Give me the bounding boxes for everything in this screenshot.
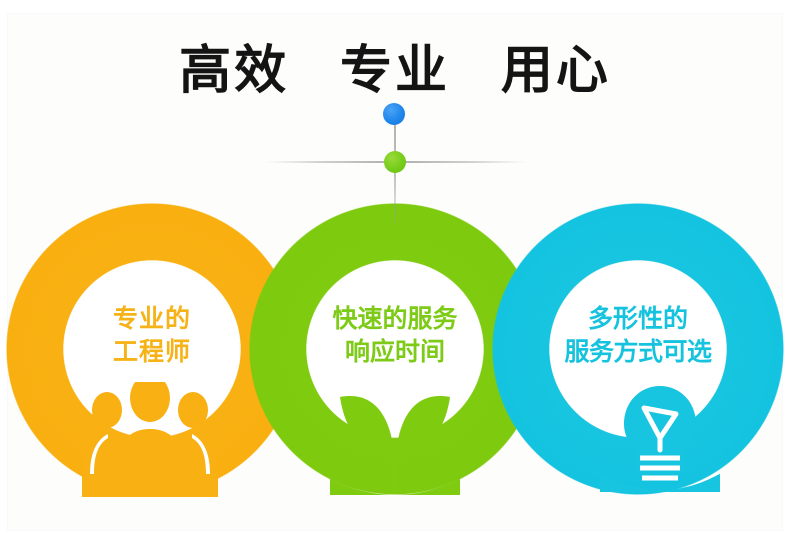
- circle-label-green-line2: 响应时间: [255, 335, 535, 368]
- blue-dot-icon: [383, 103, 405, 125]
- circle-label-orange-line2: 工程师: [12, 335, 292, 368]
- sprout-icon: [330, 383, 460, 500]
- people-group-icon: [82, 382, 218, 502]
- circle-label-cyan: 多形性的 服务方式可选: [496, 302, 780, 368]
- infographic-canvas: 高效 专业 用心: [0, 0, 790, 557]
- heading-word-1: 高效: [179, 28, 289, 103]
- green-dot-icon: [384, 151, 406, 173]
- circle-label-orange-line1: 专业的: [12, 302, 292, 335]
- heading-word-3: 用心: [501, 28, 611, 103]
- circle-label-orange: 专业的 工程师: [12, 302, 292, 368]
- circle-label-green: 快速的服务 响应时间: [255, 302, 535, 368]
- page-title: 高效 专业 用心: [0, 28, 790, 103]
- circle-label-cyan-line1: 多形性的: [496, 302, 780, 335]
- circle-label-cyan-line2: 服务方式可选: [496, 335, 780, 368]
- heading-word-2: 专业: [340, 28, 450, 103]
- lightbulb-icon: [600, 380, 720, 497]
- circle-label-green-line1: 快速的服务: [255, 302, 535, 335]
